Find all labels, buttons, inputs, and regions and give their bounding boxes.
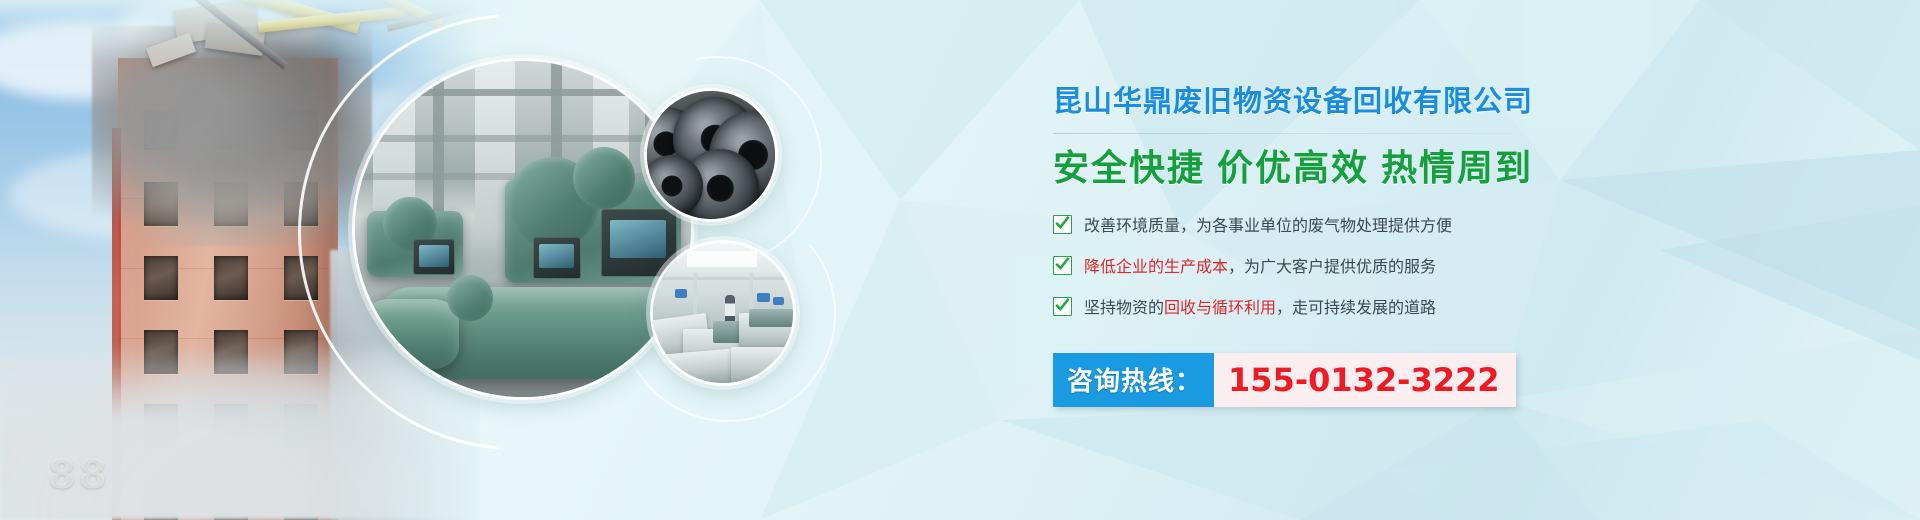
hotline-box[interactable]: 咨询热线： 155-0132-3222 bbox=[1053, 353, 1516, 407]
list-item: 降低企业的生产成本，为广大客户提供优质的服务 bbox=[1053, 253, 1523, 277]
company-title: 昆山华鼎废旧物资设备回收有限公司 bbox=[1053, 88, 1523, 117]
slogan: 安全快捷 价优高效 热情周到 bbox=[1053, 150, 1523, 186]
hotline-number[interactable]: 155-0132-3222 bbox=[1214, 353, 1515, 407]
feature-list: 改善环境质量，为各事业单位的废气物处理提供方便 降低企业的生产成本，为广大客户提… bbox=[1053, 212, 1523, 318]
promo-banner: 88 bbox=[0, 0, 1920, 520]
title-divider bbox=[1053, 133, 1513, 134]
list-item-text: 降低企业的生产成本，为广大客户提供优质的服务 bbox=[1084, 253, 1436, 277]
production-line-photo bbox=[650, 240, 796, 386]
text-panel: 昆山华鼎废旧物资设备回收有限公司 安全快捷 价优高效 热情周到 改善环境质量，为… bbox=[1053, 88, 1523, 407]
steel-coil-photo bbox=[644, 88, 778, 222]
industrial-chiller-photo bbox=[352, 58, 694, 400]
check-icon bbox=[1053, 215, 1072, 234]
list-item-text: 改善环境质量，为各事业单位的废气物处理提供方便 bbox=[1084, 212, 1452, 236]
check-icon bbox=[1053, 297, 1072, 316]
list-item: 坚持物资的回收与循环利用，走可持续发展的道路 bbox=[1053, 294, 1523, 318]
list-item-text: 坚持物资的回收与循环利用，走可持续发展的道路 bbox=[1084, 294, 1436, 318]
list-item: 改善环境质量，为各事业单位的废气物处理提供方便 bbox=[1053, 212, 1523, 236]
check-icon bbox=[1053, 256, 1072, 275]
hotline-label: 咨询热线： bbox=[1053, 353, 1214, 407]
